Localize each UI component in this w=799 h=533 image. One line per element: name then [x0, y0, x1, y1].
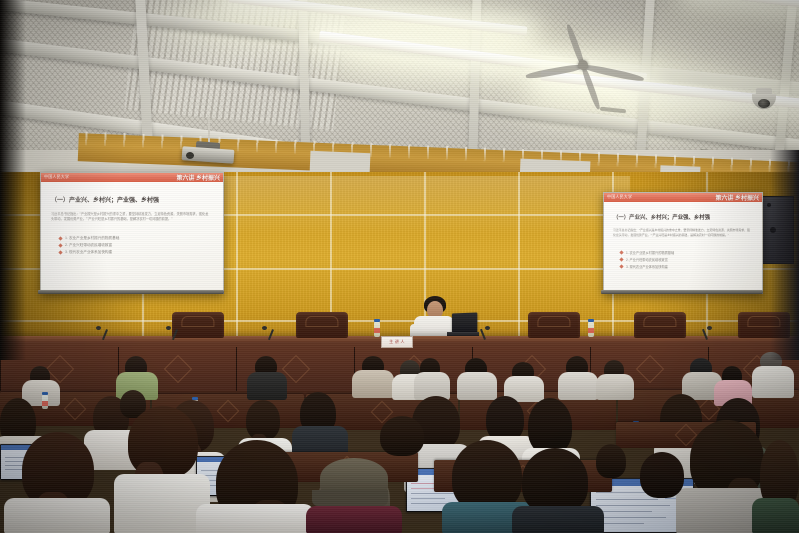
slide-header-bar: 中国人民大学 第六讲 乡村振兴 [604, 193, 762, 202]
left-screen-bottom-bar [38, 290, 224, 294]
slide-header-right-text: 第六讲 乡村振兴 [176, 173, 220, 182]
slide-body: （一）产业兴、乡村兴；产业强、乡村强 习近平总书记指出："产业振兴是乡村振兴的重… [604, 202, 762, 293]
desk-microphone [262, 326, 276, 340]
chair-carving [643, 316, 676, 327]
person-torso [306, 506, 402, 533]
person-hair [640, 452, 684, 498]
wall-grid-line [518, 172, 520, 350]
bottle-label [374, 328, 380, 333]
desk-diamond-inlay [46, 355, 74, 383]
mic-stem [268, 329, 274, 340]
screen-glare [41, 182, 223, 293]
desk-microphone [166, 326, 180, 340]
stage-chair [634, 312, 686, 338]
person-torso [512, 506, 604, 533]
desk-microphone [478, 326, 492, 340]
slide-header-right-text: 第六讲 乡村振兴 [715, 193, 759, 202]
chair-carving [305, 316, 338, 327]
mic-head-icon [262, 326, 267, 330]
bench-diamond-inlay [64, 398, 87, 421]
person-torso [558, 372, 598, 400]
person-torso [247, 372, 287, 400]
camera-lens-icon [758, 99, 770, 108]
mic-stem [702, 329, 708, 340]
stage-chair [296, 312, 348, 338]
chair-carving [181, 316, 214, 327]
person-torso [752, 498, 799, 533]
left-projection-screen: 中国人民大学 第六讲 乡村振兴 （一）产业兴、乡村兴；产业强、乡村强 习近平总书… [40, 172, 224, 294]
person-torso [596, 374, 634, 400]
wall-grid-line [236, 172, 238, 350]
desk-microphone [700, 326, 714, 340]
mic-head-icon [485, 326, 490, 330]
person-torso [352, 370, 394, 398]
person-torso [752, 366, 794, 398]
mic-stem [480, 329, 486, 340]
desk-diamond-inlay [636, 355, 664, 383]
cap-brim [312, 490, 388, 506]
mic-stem [102, 329, 108, 340]
water-bottle [588, 322, 594, 337]
person-torso [4, 498, 110, 533]
bottle-label [588, 328, 594, 333]
mic-head-icon [96, 326, 101, 330]
stage-chair [528, 312, 580, 338]
right-screen-bottom-bar [601, 290, 763, 294]
wall-highlight [200, 176, 630, 234]
right-dark-edge [770, 150, 799, 360]
person-hair [528, 398, 572, 454]
slide-header-left-text: 中国人民大学 [44, 174, 69, 180]
mic-head-icon [707, 326, 712, 330]
nameplate-text: 主 讲 人 [382, 339, 412, 345]
person-hair [522, 448, 588, 514]
person-torso [196, 504, 314, 533]
water-bottle [374, 322, 380, 337]
presenter-laptop [452, 312, 477, 333]
presenter-nameplate: 主 讲 人 [381, 336, 413, 348]
person-hair [380, 416, 424, 456]
mic-head-icon [166, 326, 171, 330]
lecture-hall-photo: 中国人民大学 第六讲 乡村振兴 （一）产业兴、乡村兴；产业强、乡村强 习近平总书… [0, 0, 799, 533]
person-hair [596, 444, 626, 478]
bottle-cap [42, 392, 48, 395]
ceiling-fan [578, 60, 588, 70]
bottle-cap [588, 319, 594, 322]
right-projection-screen: 中国人民大学 第六讲 乡村振兴 （一）产业兴、乡村兴；产业强、乡村强 习近平总书… [603, 192, 763, 294]
slide-header-bar: 中国人民大学 第六讲 乡村振兴 [41, 173, 223, 182]
chair-carving [537, 316, 570, 327]
person-torso [457, 372, 497, 400]
bench-diamond-inlay [217, 400, 240, 423]
desk-microphone [96, 326, 110, 340]
desk-diamond-inlay [164, 355, 192, 383]
slide-header-left-text: 中国人民大学 [607, 194, 632, 200]
slide-body: （一）产业兴、乡村兴；产业强、乡村强 习近平总书记指出："产业振兴是乡村振兴的重… [41, 182, 223, 293]
bottle-label [42, 401, 48, 406]
mic-stem [172, 329, 178, 340]
screen-glare [604, 202, 762, 293]
left-dark-edge [0, 0, 26, 360]
bottle-cap [374, 319, 380, 322]
water-bottle [42, 395, 48, 409]
